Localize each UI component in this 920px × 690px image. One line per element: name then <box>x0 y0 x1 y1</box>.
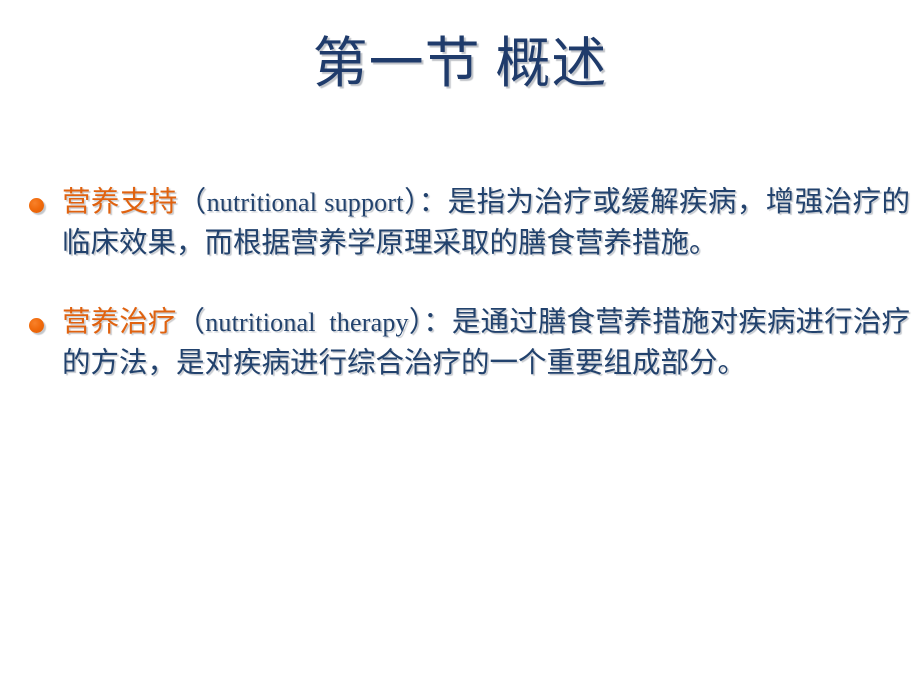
filled-circle-bullet-icon <box>29 318 44 333</box>
list-item-text: 营养支持（nutritional support）：是指为治疗或缓解疾病，增强治… <box>62 182 910 264</box>
bullet-keyword: 营养支持 <box>62 187 178 218</box>
bullet-term-open-paren: （ <box>178 187 207 218</box>
presentation-slide: 第一节 概述 营养支持（nutritional support）：是指为治疗或缓… <box>0 0 920 690</box>
bullet-keyword: 营养治疗 <box>62 307 177 338</box>
list-item-text: 营养治疗（nutritional therapy）：是通过膳食营养措施对疾病进行… <box>62 302 910 384</box>
bullet-separator: ： <box>419 187 448 218</box>
bullet-separator: ： <box>423 307 452 338</box>
bullet-term-english: nutritional therapy <box>205 308 409 337</box>
page-title: 第一节 概述 <box>0 32 920 97</box>
bullet-term-open-paren: （ <box>177 307 206 338</box>
bullet-term-close-paren: ） <box>404 187 419 218</box>
filled-circle-bullet-icon <box>29 198 44 213</box>
bullet-term-close-paren: ） <box>409 307 424 338</box>
list-item: 营养支持（nutritional support）：是指为治疗或缓解疾病，增强治… <box>26 182 910 264</box>
bullet-term-english: nutritional support <box>207 188 404 217</box>
list-item: 营养治疗（nutritional therapy）：是通过膳食营养措施对疾病进行… <box>26 302 910 384</box>
bullet-list: 营养支持（nutritional support）：是指为治疗或缓解疾病，增强治… <box>26 182 910 422</box>
